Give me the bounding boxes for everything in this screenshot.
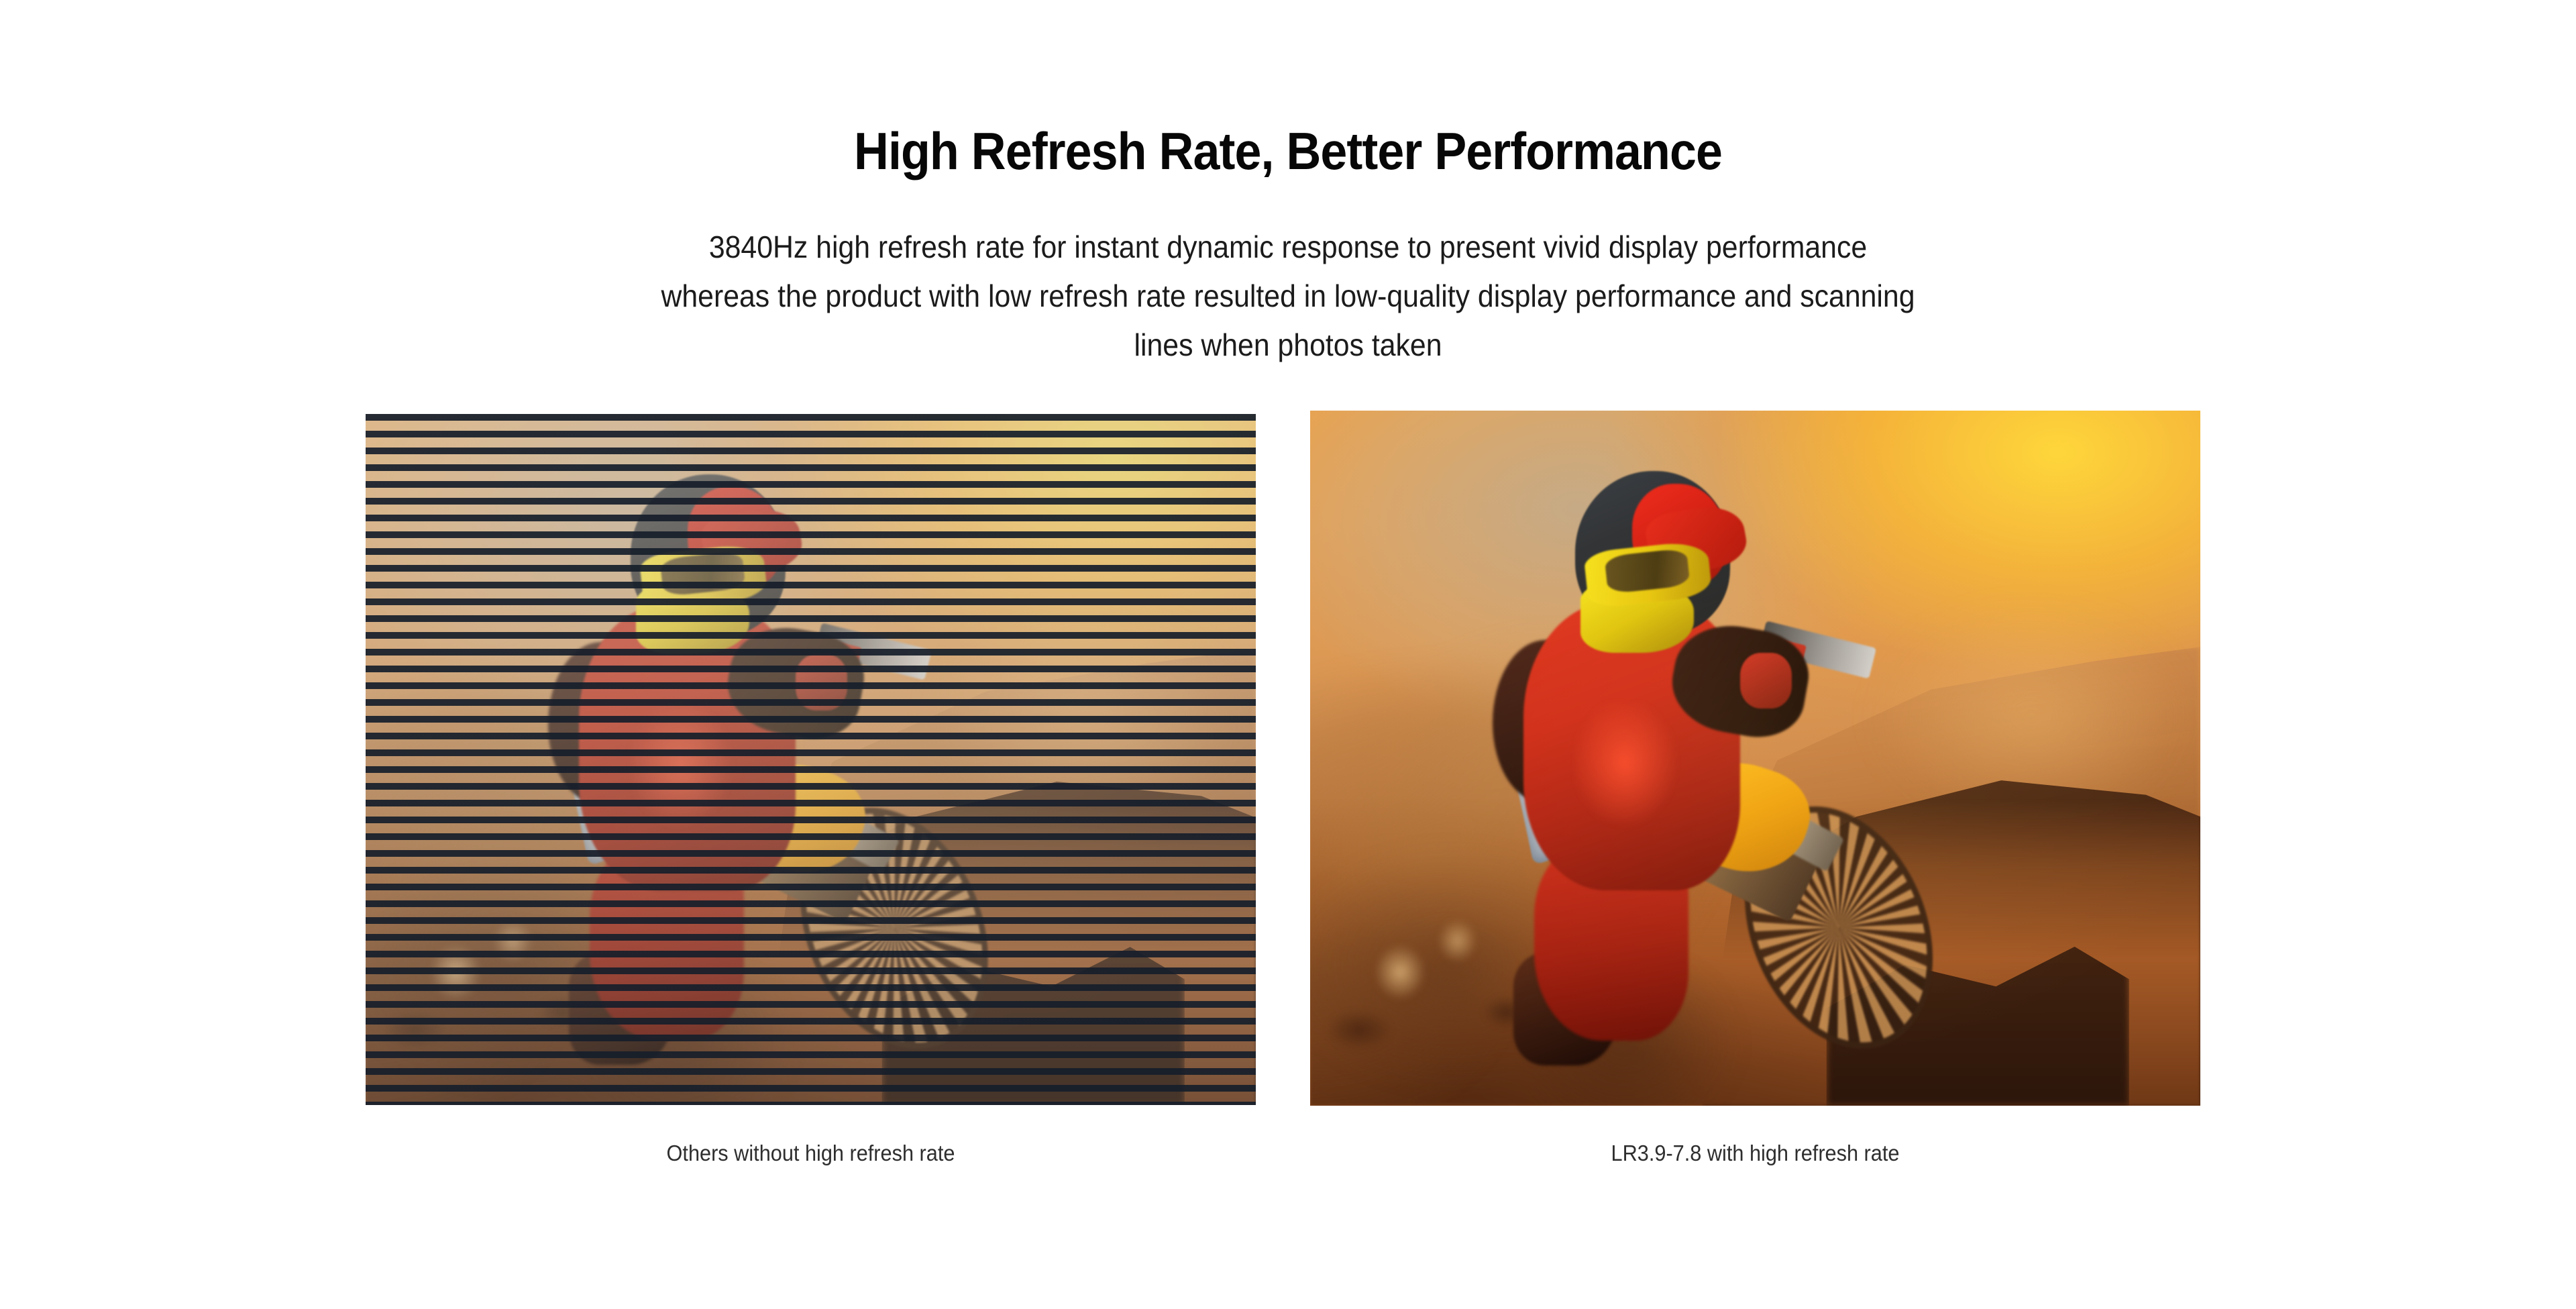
goggle-lens: [660, 551, 746, 596]
bike-wheel-hub: [847, 866, 920, 965]
bike-number-digits: [583, 700, 719, 821]
helmet-red-graphic: [688, 486, 781, 586]
sky-layer: [366, 414, 1256, 1105]
rider-chest-highlight: [631, 704, 755, 853]
rider-leg: [590, 841, 745, 1041]
bike-front-fender: [726, 750, 876, 889]
bike-fork: [754, 772, 899, 873]
rocks: [366, 884, 775, 1105]
rider-glove: [1740, 653, 1792, 709]
rider-and-bike: [548, 456, 1065, 1078]
comparison-image-left: [366, 414, 1256, 1105]
helmet-visor: [698, 503, 806, 582]
ground-layer: [366, 801, 1256, 1105]
dark-ridge: [757, 745, 1256, 1105]
rider-chest-highlight: [1575, 702, 1699, 853]
far-hill: [775, 649, 1256, 884]
comparison-image-right: [1310, 411, 2200, 1106]
rider-arm: [720, 619, 871, 746]
dust-cloud-a: [366, 621, 1006, 1105]
goggles: [639, 542, 767, 611]
handlebar-grip: [812, 637, 861, 684]
helmet-chin-guard: [636, 586, 749, 654]
subtitle-line-1: 3840Hz high refresh rate for instant dyn…: [90, 223, 2485, 272]
rider-torso: [579, 605, 796, 890]
page-subtitle: 3840Hz high refresh rate for instant dyn…: [90, 223, 2485, 370]
rider-glove: [796, 654, 847, 710]
bike-frame: [595, 722, 883, 923]
photo-glow: [366, 414, 1256, 1105]
rider-shoulder: [548, 642, 651, 804]
promo-page: High Refresh Rate, Better Performance 38…: [0, 0, 2576, 1309]
rider-helmet: [631, 474, 786, 636]
motocross-photo-clean: [1310, 411, 2200, 1106]
subtitle-line-3: lines when photos taken: [90, 321, 2485, 370]
rider-boot: [569, 953, 672, 1065]
subtitle-line-2: whereas the product with low refresh rat…: [90, 272, 2485, 321]
bike-wheel-hub: [1792, 866, 1864, 965]
bike-number-plate: [557, 666, 735, 867]
motocross-photo-degraded: [366, 414, 1256, 1105]
caption-right: LR3.9-7.8 with high refresh rate: [1341, 1140, 2169, 1167]
rider-and-bike: [1493, 452, 2009, 1078]
handlebar: [814, 623, 932, 680]
dark-ridge-foreground: [882, 925, 1185, 1105]
dust-cloud-b: [366, 774, 882, 1105]
page-title: High Refresh Rate, Better Performance: [103, 123, 2473, 179]
caption-left: Others without high refresh rate: [396, 1140, 1224, 1167]
dust-highlight: [882, 566, 1256, 870]
bike-wheel: [763, 769, 1026, 1088]
